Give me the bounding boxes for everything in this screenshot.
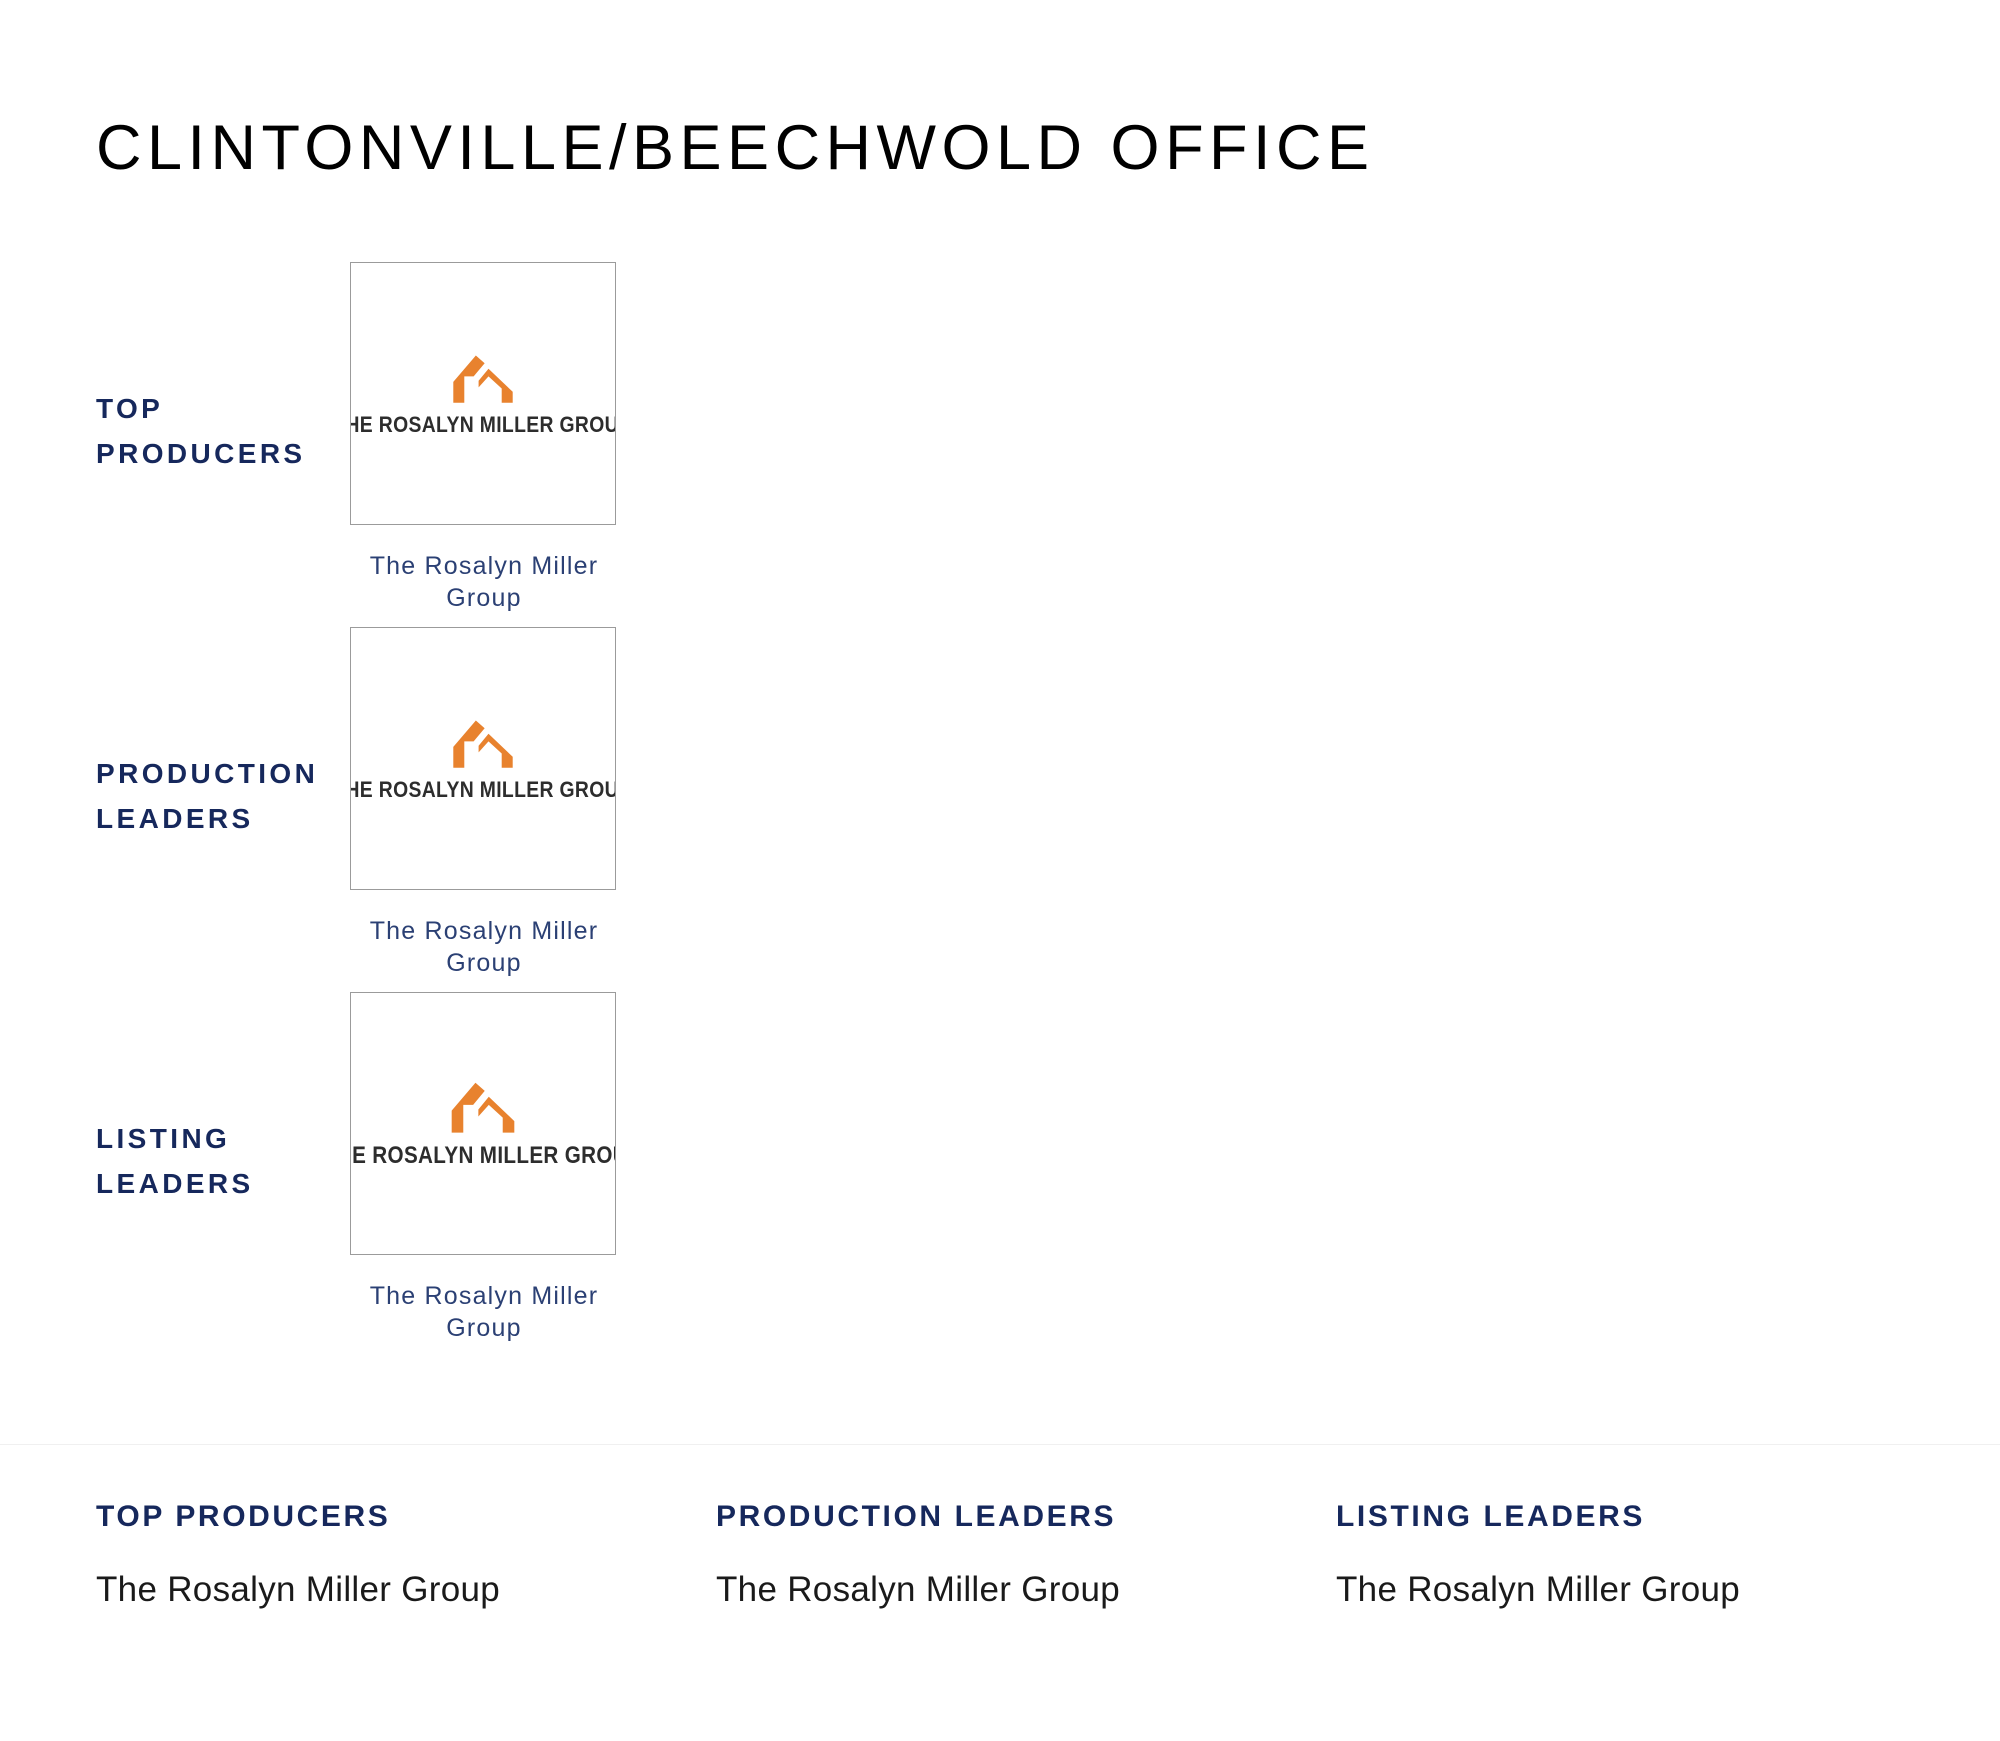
awards-block: TOP PRODUCERS THE ROSALYN MILLER GROUP T… <box>0 262 2000 1344</box>
award-card[interactable]: THE ROSALYN MILLER GROUP The Rosalyn Mil… <box>350 992 618 1344</box>
award-card-caption: The Rosalyn Miller Group <box>350 915 618 979</box>
summary-name: The Rosalyn Miller Group <box>1336 1564 1956 1617</box>
award-card-image-frame: THE ROSALYN MILLER GROUP <box>350 627 616 890</box>
award-category-label: PRODUCTION LEADERS <box>0 751 350 842</box>
summary-columns: TOP PRODUCERS The Rosalyn Miller Group P… <box>96 1500 1956 1617</box>
summary-name: The Rosalyn Miller Group <box>716 1564 1336 1617</box>
award-card[interactable]: THE ROSALYN MILLER GROUP The Rosalyn Mil… <box>350 262 618 614</box>
house-roof-icon <box>448 1077 518 1135</box>
award-row-production-leaders: PRODUCTION LEADERS THE ROSALYN MILLER GR… <box>0 627 2000 979</box>
summary-name-list: The Rosalyn Miller Group <box>96 1564 716 1617</box>
summary-column-listing-leaders: LISTING LEADERS The Rosalyn Miller Group <box>1336 1500 1956 1617</box>
summary-heading: LISTING LEADERS <box>1336 1500 1956 1534</box>
award-row-top-producers: TOP PRODUCERS THE ROSALYN MILLER GROUP T… <box>0 262 2000 614</box>
summary-heading: PRODUCTION LEADERS <box>716 1500 1336 1534</box>
award-card-caption: The Rosalyn Miller Group <box>350 1280 618 1344</box>
page-title: CLINTONVILLE/BEECHWOLD OFFICE <box>96 114 1375 183</box>
rosalyn-miller-group-logo: THE ROSALYN MILLER GROUP <box>351 350 615 438</box>
summary-name: The Rosalyn Miller Group <box>96 1564 716 1617</box>
rosalyn-miller-group-logo: THE ROSALYN MILLER GROUP <box>351 715 615 803</box>
logo-wordmark: THE ROSALYN MILLER GROUP <box>350 1142 616 1170</box>
logo-wordmark: THE ROSALYN MILLER GROUP <box>350 412 616 438</box>
award-card-caption: The Rosalyn Miller Group <box>350 550 618 614</box>
award-card-list: THE ROSALYN MILLER GROUP The Rosalyn Mil… <box>350 262 618 614</box>
award-card[interactable]: THE ROSALYN MILLER GROUP The Rosalyn Mil… <box>350 627 618 979</box>
award-row-listing-leaders: LISTING LEADERS THE ROSALYN MILLER GROUP… <box>0 992 2000 1344</box>
summary-name-list: The Rosalyn Miller Group <box>1336 1564 1956 1617</box>
summary-name-list: The Rosalyn Miller Group <box>716 1564 1336 1617</box>
section-divider <box>0 1444 2000 1445</box>
award-card-list: THE ROSALYN MILLER GROUP The Rosalyn Mil… <box>350 992 618 1344</box>
award-card-image-frame: THE ROSALYN MILLER GROUP <box>350 992 616 1255</box>
summary-column-top-producers: TOP PRODUCERS The Rosalyn Miller Group <box>96 1500 716 1617</box>
award-category-label: LISTING LEADERS <box>0 1116 350 1207</box>
summary-heading: TOP PRODUCERS <box>96 1500 716 1534</box>
house-roof-icon <box>450 350 516 405</box>
award-category-label: TOP PRODUCERS <box>0 386 350 477</box>
house-roof-icon <box>450 715 516 770</box>
summary-column-production-leaders: PRODUCTION LEADERS The Rosalyn Miller Gr… <box>716 1500 1336 1617</box>
award-card-image-frame: THE ROSALYN MILLER GROUP <box>350 262 616 525</box>
logo-wordmark: THE ROSALYN MILLER GROUP <box>350 777 616 803</box>
rosalyn-miller-group-logo: THE ROSALYN MILLER GROUP <box>351 1077 615 1170</box>
award-card-list: THE ROSALYN MILLER GROUP The Rosalyn Mil… <box>350 627 618 979</box>
